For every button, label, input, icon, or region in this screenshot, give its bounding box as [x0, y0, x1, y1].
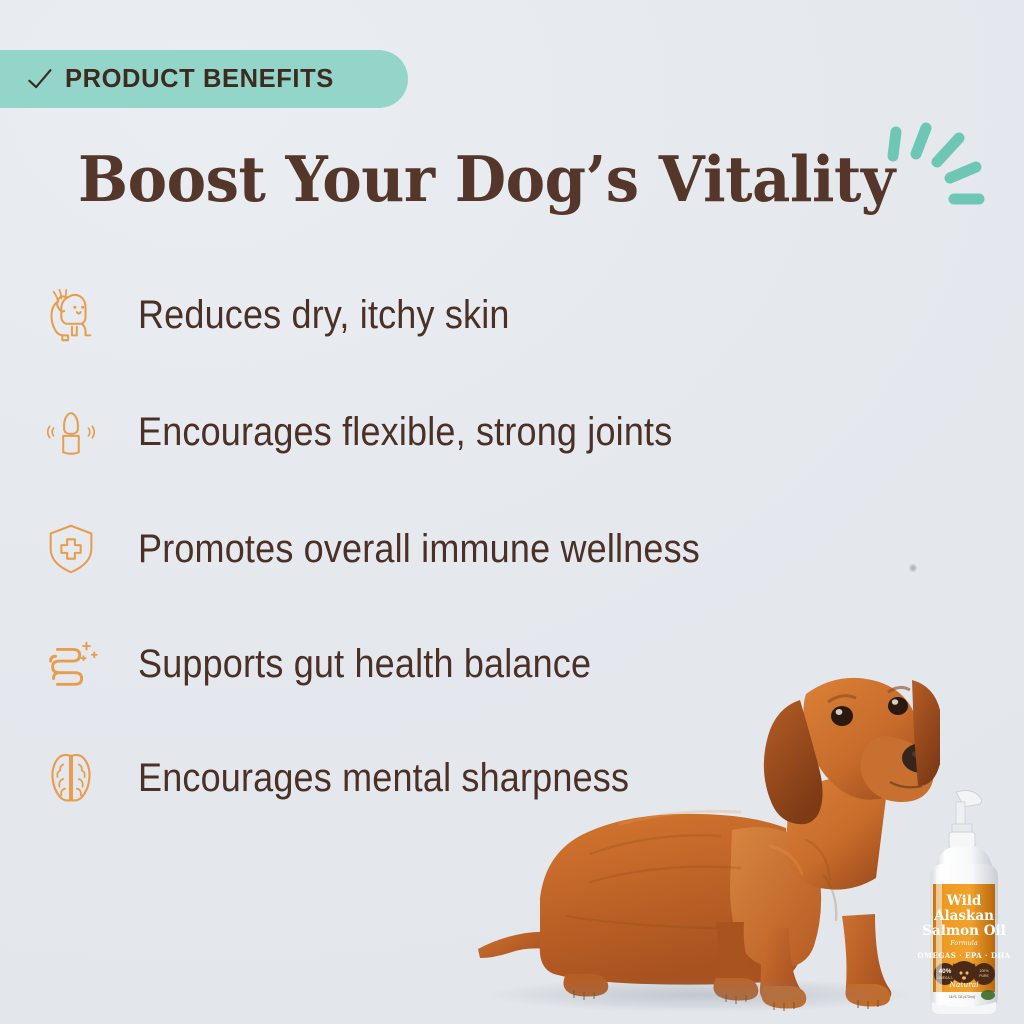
- actives-line: OMEGAS · EPA · DHA: [917, 951, 1010, 960]
- dog-shadow: [490, 978, 910, 1012]
- product-benefits-badge: PRODUCT BENEFITS: [0, 50, 408, 108]
- net-weight: 16 FL OZ (473 ml): [949, 995, 975, 999]
- product-bottle: Wild Alaskan Salmon Oil Formula OMEGAS ·…: [916, 788, 1012, 1024]
- product-name-line1: Wild: [946, 893, 982, 909]
- formula-word: Formula: [949, 939, 978, 947]
- benefit-row: Promotes overall immune wellness: [40, 511, 920, 587]
- dachshund-photo: [470, 640, 940, 1024]
- benefit-label: Reduces dry, itchy skin: [138, 293, 510, 338]
- image-speck: [909, 564, 917, 572]
- benefit-label: Encourages flexible, strong joints: [138, 410, 672, 455]
- svg-text:PURE: PURE: [979, 974, 989, 978]
- page-title: Boost Your Dog’s Vitality: [78, 148, 895, 211]
- product-benefits-infographic: PRODUCT BENEFITS Boost Your Dog’s Vitali…: [0, 0, 1024, 1024]
- salmon-oil-bottle: Wild Alaskan Salmon Oil Formula OMEGAS ·…: [916, 788, 1012, 1024]
- dog-scratching-icon: [40, 284, 102, 346]
- brain-icon: [40, 747, 102, 809]
- dachshund-illustration: [470, 640, 940, 1024]
- check-icon: [26, 66, 53, 93]
- benefit-label: Promotes overall immune wellness: [138, 527, 700, 572]
- svg-text:100%: 100%: [980, 969, 989, 973]
- product-name-line3: Salmon Oil: [922, 923, 1005, 939]
- brand-script: Natural: [948, 980, 979, 989]
- product-name-line2: Alaskan: [933, 908, 994, 924]
- benefit-row: Encourages flexible, strong joints: [40, 394, 920, 470]
- product-benefits-label: PRODUCT BENEFITS: [65, 65, 334, 94]
- sparkle-rays-icon: [880, 122, 990, 227]
- benefit-row: Reduces dry, itchy skin: [40, 277, 920, 353]
- intestines-sparkle-icon: [40, 633, 102, 695]
- joint-flex-icon: [40, 401, 102, 463]
- shield-cross-icon: [40, 518, 102, 580]
